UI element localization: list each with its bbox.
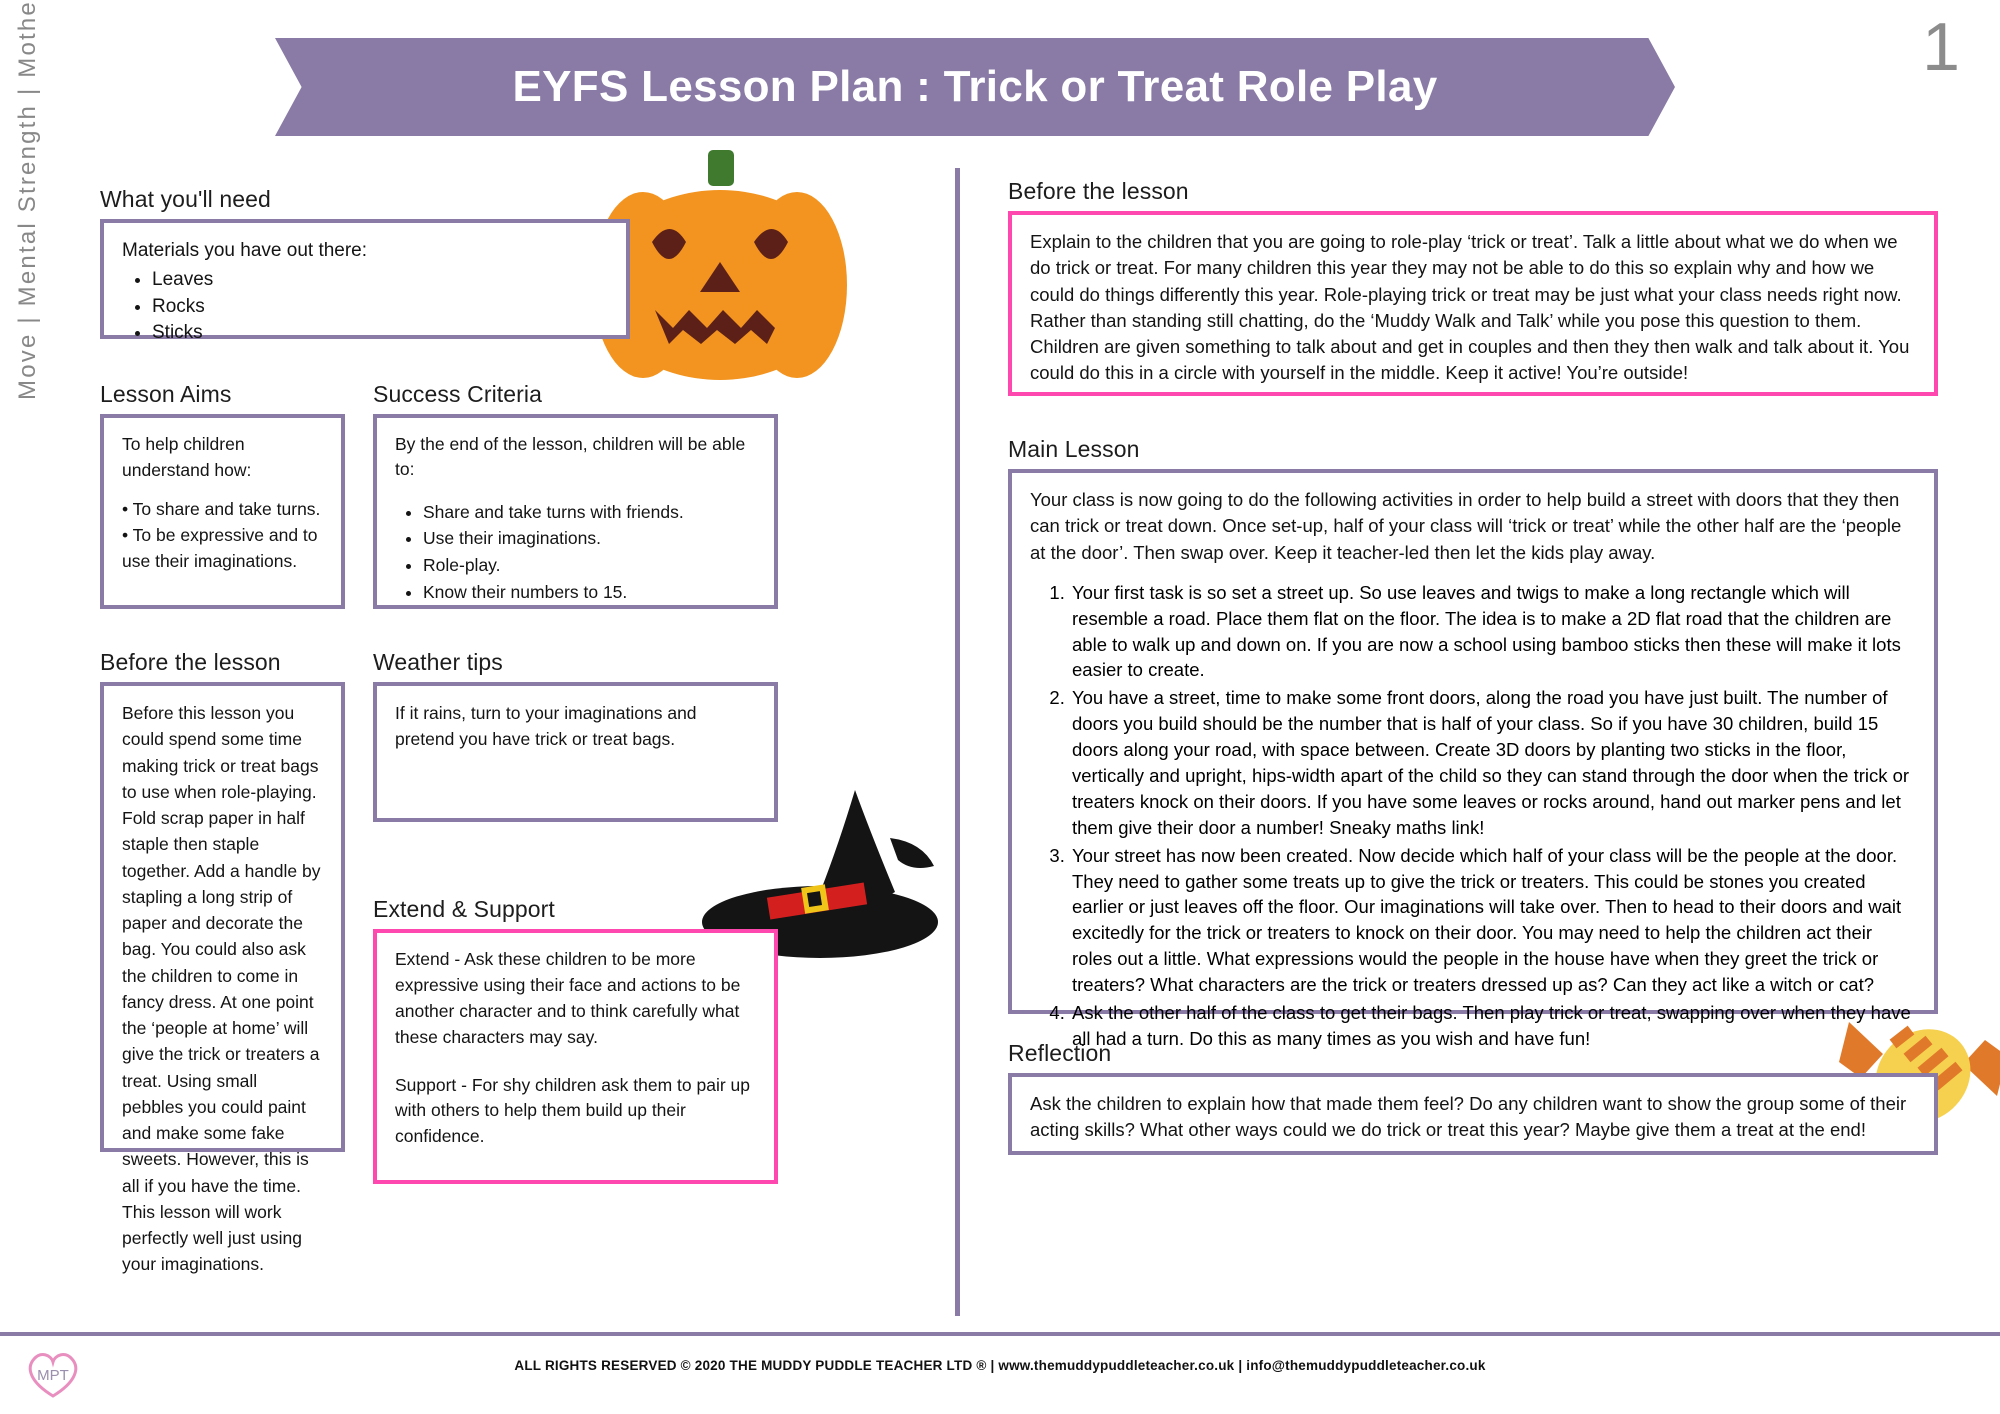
main-lesson-heading: Main Lesson bbox=[1008, 436, 1938, 463]
right-column: Before the lesson Explain to the childre… bbox=[1008, 178, 1938, 1181]
section-what-you-need: What you'll need Materials you have out … bbox=[100, 186, 890, 339]
support-text: Support - For shy children ask them to p… bbox=[395, 1073, 756, 1151]
before-lesson-right-heading: Before the lesson bbox=[1008, 178, 1938, 205]
reflection-body: Ask the children to explain how that mad… bbox=[1030, 1091, 1916, 1144]
section-weather-tips: Weather tips If it rains, turn to your i… bbox=[373, 649, 778, 822]
section-before-the-lesson-left: Before the lesson Before this lesson you… bbox=[100, 649, 345, 1184]
section-success-criteria: Success Criteria By the end of the lesso… bbox=[373, 381, 778, 609]
aims-and-criteria-row: Lesson Aims To help children understand … bbox=[100, 381, 890, 609]
weather-and-extend-column: Weather tips If it rains, turn to your i… bbox=[373, 649, 778, 1184]
extend-text: Extend - Ask these children to be more e… bbox=[395, 947, 756, 1051]
list-item: Use their imaginations. bbox=[423, 525, 756, 552]
lesson-aims-box: To help children understand how: • To sh… bbox=[100, 414, 345, 609]
mpt-logo: MPT bbox=[22, 1344, 84, 1402]
list-item: Share and take turns with friends. bbox=[423, 499, 756, 526]
banner-shape: EYFS Lesson Plan : Trick or Treat Role P… bbox=[275, 38, 1675, 136]
extend-support-box: Extend - Ask these children to be more e… bbox=[373, 929, 778, 1184]
materials-intro: Materials you have out there: bbox=[122, 237, 608, 265]
before-lesson-right-body: Explain to the children that you are goi… bbox=[1030, 229, 1916, 387]
extend-support-heading: Extend & Support bbox=[373, 896, 778, 923]
success-criteria-box: By the end of the lesson, children will … bbox=[373, 414, 778, 609]
footer-divider bbox=[0, 1332, 2000, 1336]
page-number: 1 bbox=[1922, 8, 1958, 86]
success-criteria-list: Share and take turns with friends. Use t… bbox=[423, 499, 756, 605]
section-extend-support: Extend & Support Extend - Ask these chil… bbox=[373, 896, 778, 1184]
section-reflection: Reflection Ask the children to explain h… bbox=[1008, 1040, 1938, 1155]
before-weather-extend-row: Before the lesson Before this lesson you… bbox=[100, 649, 890, 1184]
list-item: Rocks bbox=[152, 294, 608, 321]
lesson-aims-bullet: • To be expressive and to use their imag… bbox=[122, 523, 323, 574]
section-before-the-lesson-right: Before the lesson Explain to the childre… bbox=[1008, 178, 1938, 396]
weather-tips-heading: Weather tips bbox=[373, 649, 778, 676]
before-lesson-left-heading: Before the lesson bbox=[100, 649, 345, 676]
list-item: Know their numbers to 15. bbox=[423, 579, 756, 606]
weather-tips-box: If it rains, turn to your imaginations a… bbox=[373, 682, 778, 822]
success-criteria-intro: By the end of the lesson, children will … bbox=[395, 432, 756, 483]
reflection-box: Ask the children to explain how that mad… bbox=[1008, 1073, 1938, 1155]
spacer bbox=[395, 1051, 756, 1073]
column-divider bbox=[955, 168, 960, 1316]
list-item: Sticks bbox=[152, 320, 608, 347]
main-lesson-box: Your class is now going to do the follow… bbox=[1008, 469, 1938, 1014]
main-lesson-steps: Your first task is so set a street up. S… bbox=[1070, 580, 1916, 1052]
before-lesson-left-body: Before this lesson you could spend some … bbox=[122, 700, 323, 1278]
materials-list: Leaves Rocks Sticks bbox=[152, 267, 608, 348]
weather-tips-body: If it rains, turn to your imaginations a… bbox=[395, 700, 756, 753]
lesson-aims-heading: Lesson Aims bbox=[100, 381, 345, 408]
footer-copyright: ALL RIGHTS RESERVED © 2020 THE MUDDY PUD… bbox=[0, 1358, 2000, 1373]
section-main-lesson: Main Lesson Your class is now going to d… bbox=[1008, 436, 1938, 1014]
before-lesson-left-box: Before this lesson you could spend some … bbox=[100, 682, 345, 1152]
list-item: You have a street, time to make some fro… bbox=[1070, 685, 1916, 840]
list-item: Ask the other half of the class to get t… bbox=[1070, 1000, 1916, 1052]
lesson-aims-bullet: • To share and take turns. bbox=[122, 497, 323, 523]
left-column: What you'll need Materials you have out … bbox=[100, 186, 890, 1184]
section-lesson-aims: Lesson Aims To help children understand … bbox=[100, 381, 345, 609]
list-item: Your street has now been created. Now de… bbox=[1070, 843, 1916, 998]
page-title: EYFS Lesson Plan : Trick or Treat Role P… bbox=[513, 62, 1438, 112]
what-you-need-box: Materials you have out there: Leaves Roc… bbox=[100, 219, 630, 339]
list-item: Your first task is so set a street up. S… bbox=[1070, 580, 1916, 684]
spacer bbox=[122, 483, 323, 497]
success-criteria-heading: Success Criteria bbox=[373, 381, 778, 408]
lesson-plan-page: 1 EYFS Lesson Plan : Trick or Treat Role… bbox=[0, 0, 2000, 1414]
list-item: Role-play. bbox=[423, 552, 756, 579]
what-you-need-heading: What you'll need bbox=[100, 186, 890, 213]
before-lesson-right-box: Explain to the children that you are goi… bbox=[1008, 211, 1938, 396]
list-item: Leaves bbox=[152, 267, 608, 294]
main-lesson-intro: Your class is now going to do the follow… bbox=[1030, 487, 1916, 566]
header-banner: EYFS Lesson Plan : Trick or Treat Role P… bbox=[275, 38, 1675, 136]
brand-vertical-label: Move | Mental Strength | Mother Nature bbox=[14, 0, 42, 400]
lesson-aims-intro: To help children understand how: bbox=[122, 432, 323, 483]
